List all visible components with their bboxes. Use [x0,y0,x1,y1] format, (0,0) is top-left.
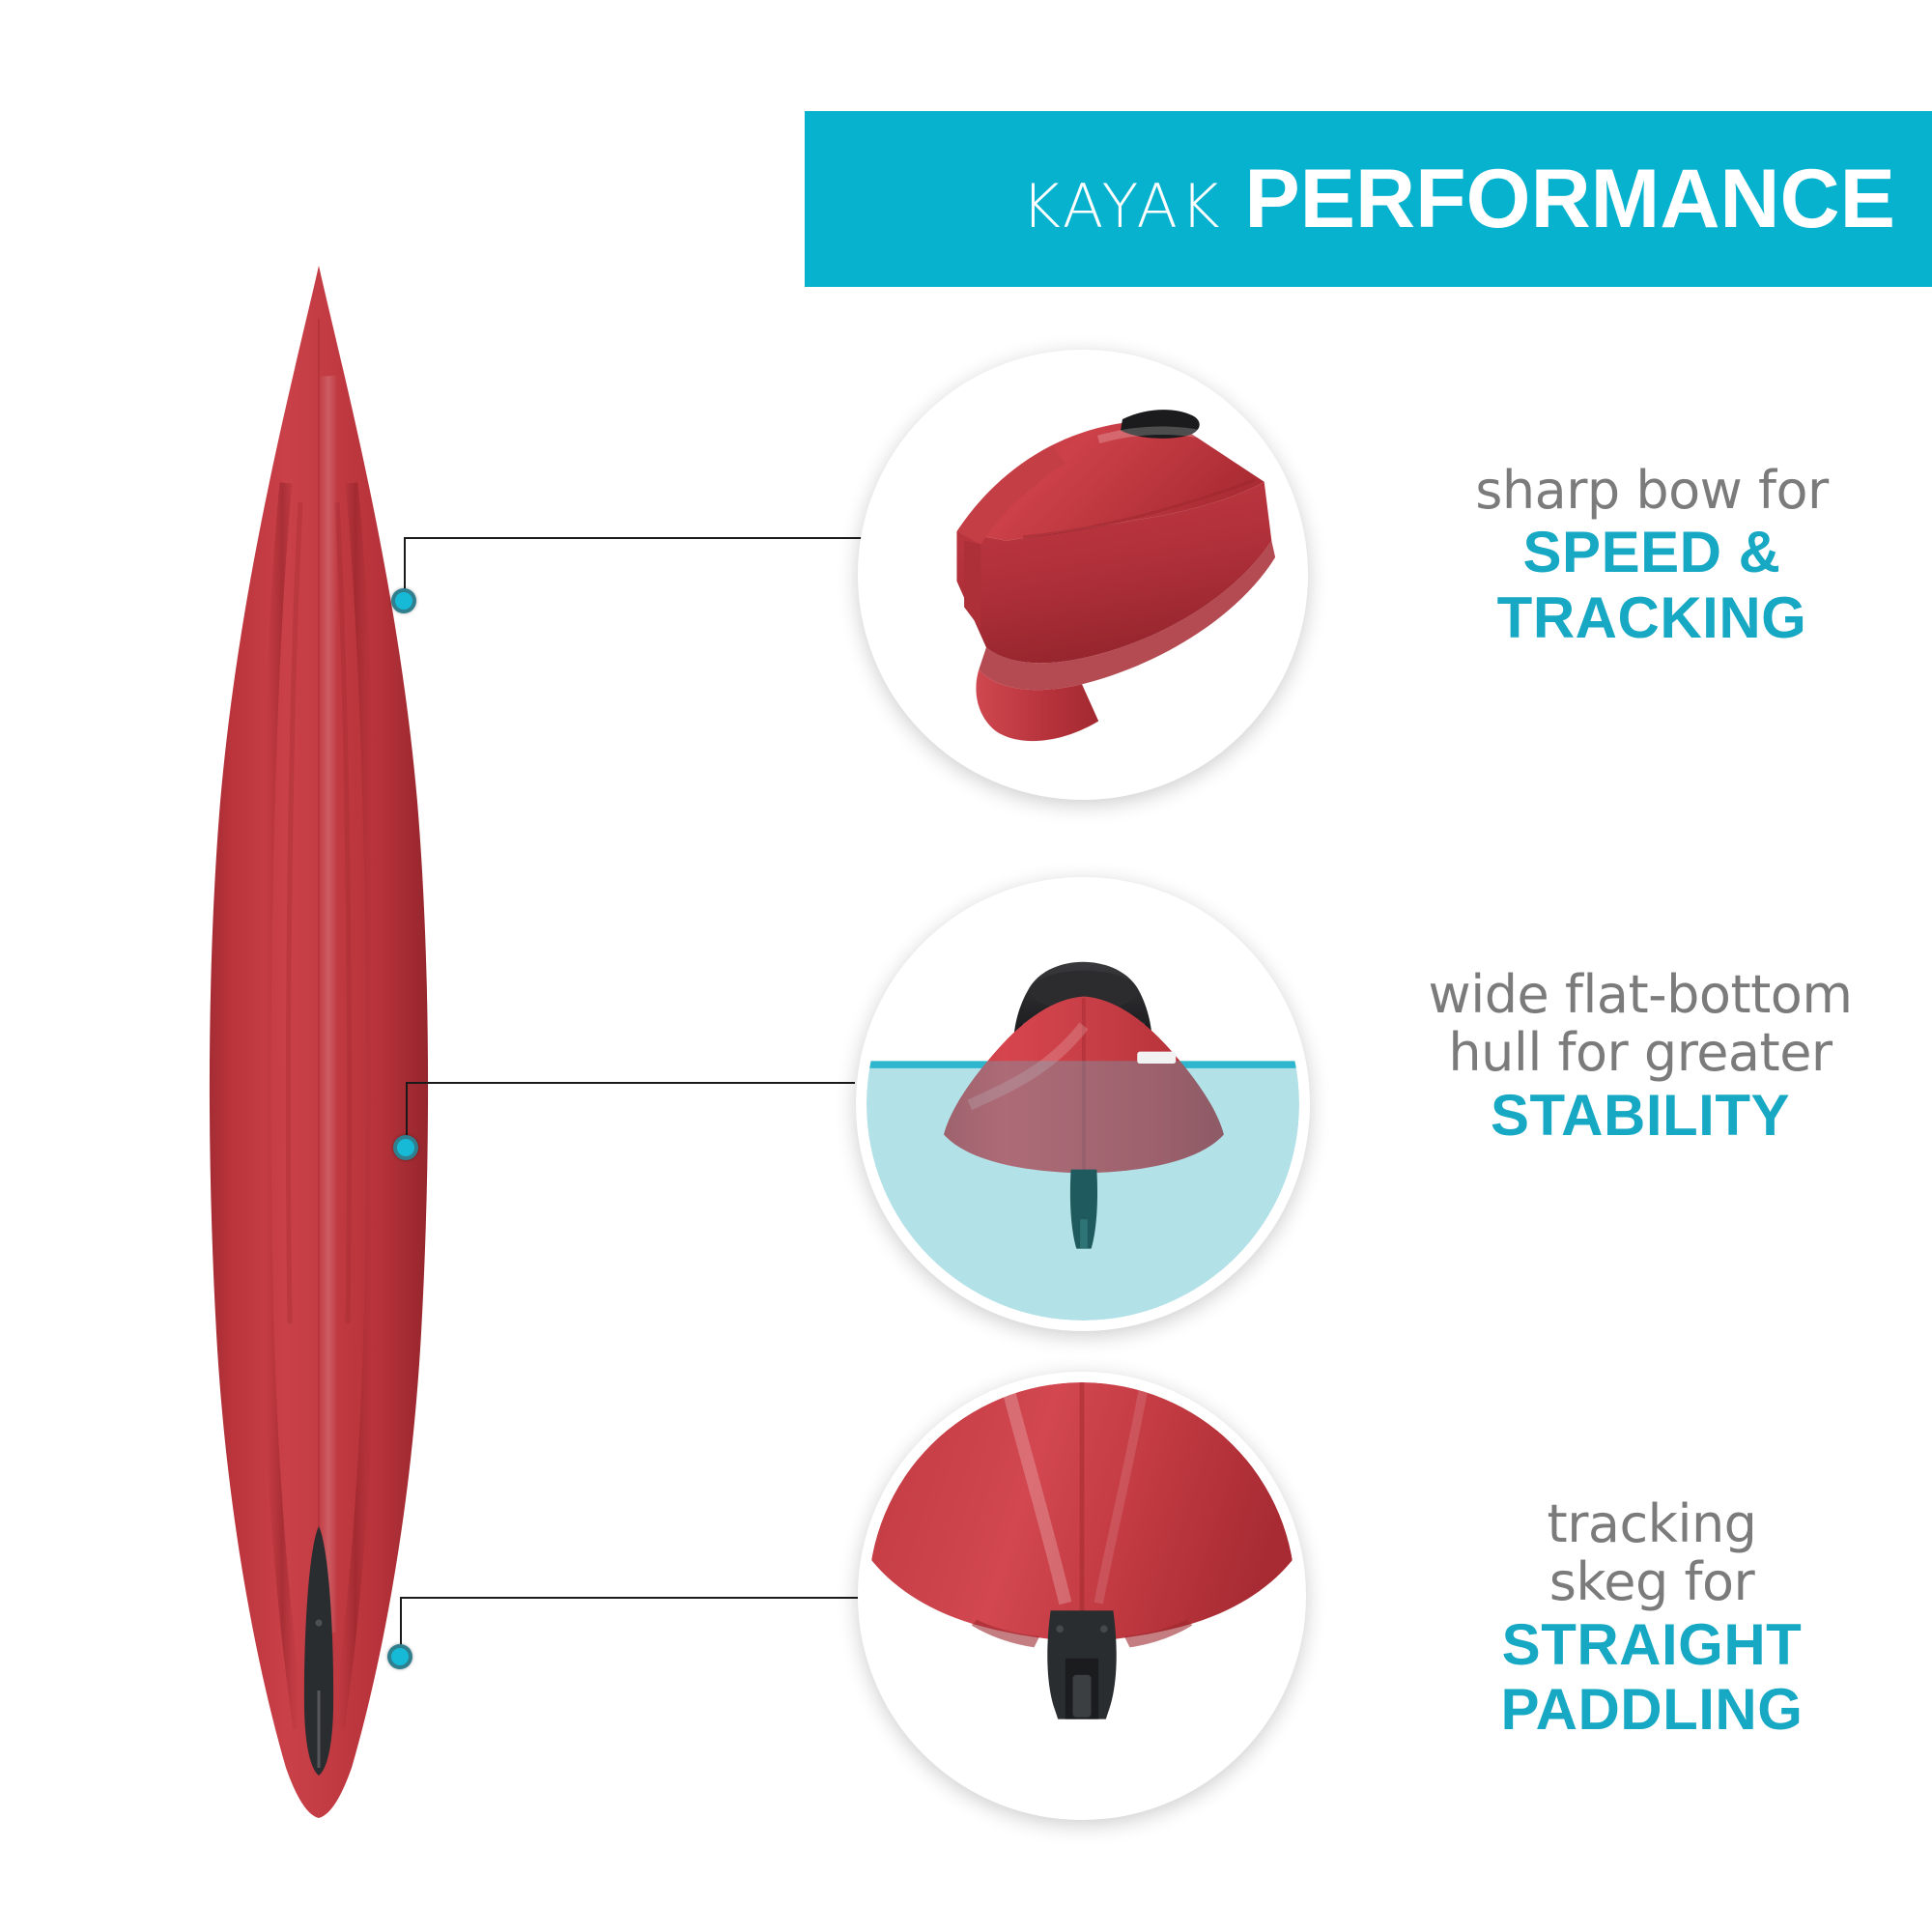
skeg-insert [1072,1675,1091,1718]
bow-closeup-illustration [868,360,1297,789]
callout-2-lead-line-1: wide flat-bottom [1350,966,1930,1024]
title-space [1223,171,1245,241]
page-title: KAYAK PERFORMANCE [1021,157,1895,241]
callout-2-lead-line-2: hull for greater [1350,1024,1930,1082]
callout-3-lead-line-2: skeg for [1381,1553,1922,1611]
callout-3-emph-line-2: PADDLING [1381,1677,1922,1742]
callout-stability: wide flat-bottom hull for greater STABIL… [1350,966,1930,1148]
hull-label-sticker [1137,1052,1176,1064]
callout-3-lead-line-1: tracking [1381,1495,1922,1553]
hotspot-dot-skeg[interactable] [387,1644,412,1669]
callout-2-emph-line-1: STABILITY [1350,1083,1930,1148]
hull-skeg-slot [1080,1219,1088,1249]
callout-straight-paddling: tracking skeg for STRAIGHT PADDLING [1381,1495,1922,1742]
page-title-prefix: KAYAK [1021,171,1222,241]
callout-1-emph-line-1: SPEED & [1381,520,1922,584]
inset-circle-bow[interactable] [858,350,1308,800]
inset-circle-hull[interactable] [856,877,1310,1331]
kayak-highlight [319,377,338,1633]
callout-3-emph-line-1: STRAIGHT [1381,1612,1922,1677]
page-title-main: PERFORMANCE [1244,153,1895,245]
kayak-top-view-image [145,261,493,1821]
skeg-screw-left [1056,1625,1064,1633]
header-banner: KAYAK PERFORMANCE [805,111,1932,287]
infographic-canvas: KAYAK PERFORMANCE [0,0,1932,1932]
callout-1-emph-line-2: TRACKING [1381,585,1922,650]
kayak-skeg-screw [316,1620,323,1627]
inset-hull-photo [867,888,1299,1321]
inset-bow-photo [868,360,1297,789]
callout-1-lead-line-1: sharp bow for [1381,462,1922,520]
hotspot-dot-bow[interactable] [391,588,416,613]
hull-waterline-illustration [867,888,1299,1321]
kayak-illustration [145,261,493,1821]
hotspot-dot-hull[interactable] [393,1135,418,1160]
skeg-closeup-illustration [868,1382,1295,1809]
callout-speed-tracking: sharp bow for SPEED & TRACKING [1381,462,1922,650]
inset-circle-skeg[interactable] [858,1372,1306,1820]
inset-skeg-photo [868,1382,1295,1809]
skeg-screw-right [1100,1625,1108,1633]
